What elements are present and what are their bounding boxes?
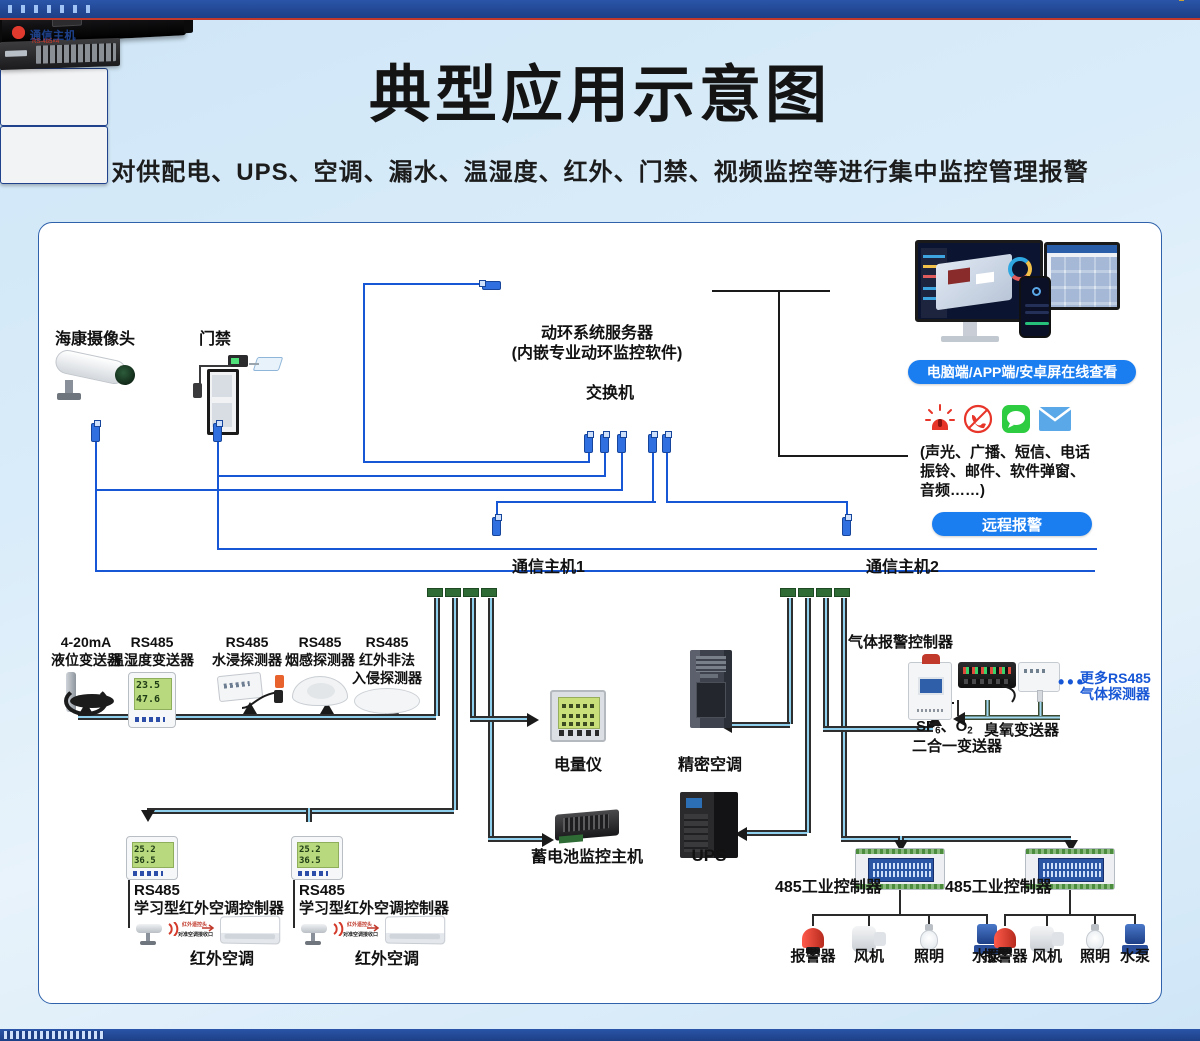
sensor-4-type: RS485 [366, 634, 409, 651]
wire-ac0-down [128, 880, 130, 928]
bus-sf6-tap [985, 700, 990, 716]
o2-sub: 2 [967, 726, 972, 737]
o2-label-mid: 、O [941, 718, 968, 735]
ac-1-type: RS485 [299, 882, 345, 900]
comm-host-2-terminal-3 [816, 588, 832, 597]
bus-host1-t3 [470, 598, 476, 718]
bus-ac-ctl-2-drop [306, 808, 312, 822]
wire-ac1-down [293, 880, 295, 928]
wire-server-top [363, 283, 493, 285]
remote-alarm-badge[interactable]: 远程报警 [932, 512, 1092, 536]
arrow-ac-ctl-1 [141, 810, 155, 822]
arrow-power-meter [527, 713, 539, 727]
bus-host2-t2 [805, 598, 811, 833]
plc-1-output-3-label: 水泵 [1120, 948, 1150, 966]
link-server-to-monitor-v [778, 290, 780, 457]
comm-host-2-label: 通信主机2 [866, 558, 939, 578]
ac-1-device-label: 红外空调 [355, 950, 419, 970]
sf6-o2-label-line2: 二合一变送器 [912, 738, 1002, 756]
bus-ac-controllers [147, 808, 454, 814]
sensor-0-type: 4-20mA [61, 634, 112, 651]
plc-1-rail [1004, 914, 1136, 916]
arrow-battery-host [542, 833, 554, 847]
monitor-base [941, 336, 999, 342]
bus-precision-ac [730, 722, 790, 728]
bus-plc-controllers [841, 836, 1071, 842]
comm-host-2-rj45 [842, 517, 851, 536]
sf6-o2-label-line1: SF6、O2 [916, 718, 973, 738]
wire-access-horizontal [217, 548, 1097, 550]
ac-0-temp: 25.2 [134, 845, 156, 855]
ir-emitter-icon [136, 920, 170, 946]
level-transmitter-icon [58, 672, 120, 708]
bus-host1-t2 [452, 598, 458, 810]
tablet-screen-icon [1044, 242, 1120, 310]
camera-rj45-plug [91, 423, 100, 442]
plc-0-output-2-label: 照明 [914, 948, 944, 966]
more-gas-line1: 更多RS485 [1080, 670, 1151, 687]
plc-1-output-2-label: 照明 [1080, 948, 1110, 966]
comm-host-1-rj45 [492, 517, 501, 536]
switch-plug-5 [662, 434, 671, 453]
access-rj45-plug [213, 423, 222, 442]
camera-label: 海康摄像头 [55, 330, 135, 350]
gas-alarm-controller-icon [908, 662, 952, 720]
ir-emitter-2-icon [301, 920, 335, 946]
monitor-stand [963, 322, 977, 336]
ac-1-note2: 对准空调接收口 [343, 931, 378, 938]
switch-plug-4 [648, 434, 657, 453]
sensor-2-name: 水浸探测器 [212, 652, 282, 669]
server-label-line2: (内嵌专业动环监控软件) [512, 344, 683, 364]
precision-ac-icon [690, 650, 732, 728]
sensor-1-name: 温湿度变送器 [110, 652, 194, 669]
pir-intrusion-icon [354, 688, 420, 714]
temp-value: 23.5 [136, 680, 160, 691]
alarm-text-line3: 音频……) [920, 482, 985, 500]
humidity-value: 47.6 [136, 694, 160, 705]
plc-0-output-0-label: 报警器 [790, 948, 835, 966]
battery-host-label: 蓄电池监控主机 [531, 848, 643, 868]
page-title: 典型应用示意图 [0, 44, 1200, 134]
wire-server-bottom [363, 461, 588, 463]
sensor-3-type: RS485 [299, 634, 342, 651]
comm-host-1-terminal-1 [427, 588, 443, 597]
power-meter-label: 电量仪 [554, 756, 602, 776]
ozone-label: 臭氧变送器 [984, 722, 1059, 740]
comm-host-1-terminal-2 [445, 588, 461, 597]
water-leak-icon [218, 674, 290, 708]
sensor-1-type: RS485 [131, 634, 174, 651]
split-ac-unit-icon [220, 915, 280, 944]
switch-label: 交换机 [586, 384, 634, 404]
ac-1-temp: 25.2 [299, 845, 321, 855]
split-ac-unit-2-icon [385, 915, 445, 944]
comm-host-2-terminal-2 [798, 588, 814, 597]
bus-host1-t1 [434, 598, 440, 716]
ac-0-note2: 对准空调接收口 [178, 931, 213, 938]
link-server-to-monitor-h2 [778, 455, 908, 457]
plc-0-rail [812, 914, 988, 916]
plc-1-label: 485工业控制器 [945, 878, 1052, 898]
bus-host2-t1 [787, 598, 793, 724]
bus-power-meter [470, 716, 528, 722]
plc-0-label: 485工业控制器 [775, 878, 882, 898]
plc-1-output-0-label: 报警器 [982, 948, 1027, 966]
link-server-to-monitor-h1 [712, 290, 830, 292]
gas-controller-label: 气体报警控制器 [848, 634, 953, 652]
comm-host-1-label: 通信主机1 [512, 558, 585, 578]
sensor-4-name2: 入侵探测器 [352, 670, 422, 687]
page-subtitle: 对供配电、UPS、空调、漏水、温湿度、红外、门禁、视频监控等进行集中监控管理报警 [0, 152, 1200, 187]
sensor-2-type: RS485 [226, 634, 269, 651]
ozone-transmitter-icon [1018, 662, 1060, 692]
bus-gas-sensors [960, 715, 1060, 720]
wire-gas-ctl-step [957, 700, 959, 716]
plc-1-output-1-label: 风机 [1032, 948, 1062, 966]
comm-host-2-terminal-4 [834, 588, 850, 597]
access-control-label: 门禁 [199, 330, 231, 350]
siren-alarm-icon [925, 404, 955, 434]
more-gas-line2: 气体探测器 [1080, 686, 1150, 703]
plc-0-trunk [899, 890, 901, 916]
ups-label: UPS [692, 846, 727, 867]
ir-ac-controller-2-icon: 25.2 36.5 [291, 836, 343, 880]
wire-camera-vertical [95, 440, 97, 572]
bus-ups [745, 830, 807, 836]
ir-arrow-icon [202, 924, 216, 932]
plc-1-drop-2 [1046, 914, 1048, 926]
wire-access-vertical [217, 440, 219, 550]
ac-0-device-label: 红外空调 [190, 950, 254, 970]
ac-1-humidity: 36.5 [299, 856, 321, 866]
bus-battery-host [488, 836, 543, 842]
wire-bus-to-host1 [496, 501, 656, 503]
view-badge[interactable]: 电脑端/APP端/安卓屏在线查看 [908, 360, 1136, 384]
server-rj45-plug [482, 281, 501, 290]
bus-host2-t4 [841, 598, 847, 838]
wire-camera-horizontal [95, 570, 1095, 572]
switch-plug-2 [600, 434, 609, 453]
wire-server-left [363, 283, 365, 463]
ir-ac-controller-icon: 25.2 36.5 [126, 836, 178, 880]
ac-0-humidity: 36.5 [134, 856, 156, 866]
plc-0-output-1-label: 风机 [854, 948, 884, 966]
precision-ac-label: 精密空调 [678, 756, 742, 776]
switch-plug-1 [584, 434, 593, 453]
ir-arrow-2-icon [367, 924, 381, 932]
sms-message-icon [1001, 404, 1031, 434]
comm-host-1-terminal-4 [481, 588, 497, 597]
bus-host2-t3 [823, 598, 829, 728]
wire-switch-p3h [95, 489, 622, 491]
wire-switch-p2h [217, 475, 605, 477]
email-envelope-icon [1039, 407, 1071, 431]
sensor-3-name: 烟感探测器 [285, 652, 355, 669]
comm-host-2-terminal-1 [780, 588, 796, 597]
switch-plug-3 [617, 434, 626, 453]
alarm-text-line2: 振铃、邮件、软件弹窗、 [920, 463, 1085, 481]
sensor-4-name1: 红外非法 [359, 652, 415, 669]
ac-0-type: RS485 [134, 882, 180, 900]
power-meter-icon [550, 690, 606, 742]
temp-humidity-icon: 23.5 47.6 [128, 672, 176, 728]
server-label-line1: 动环系统服务器 [541, 324, 653, 344]
wire-bus-to-host2 [666, 501, 848, 503]
plc-1-trunk [1069, 890, 1071, 916]
plc-0-drop-2 [868, 914, 870, 926]
alarm-text-line1: (声光、广播、短信、电话 [920, 444, 1090, 462]
smartphone-icon [1019, 276, 1051, 338]
phone-ring-icon [963, 404, 993, 434]
comm-host-1-terminal-3 [463, 588, 479, 597]
sf6-label-main: SF [916, 718, 935, 735]
